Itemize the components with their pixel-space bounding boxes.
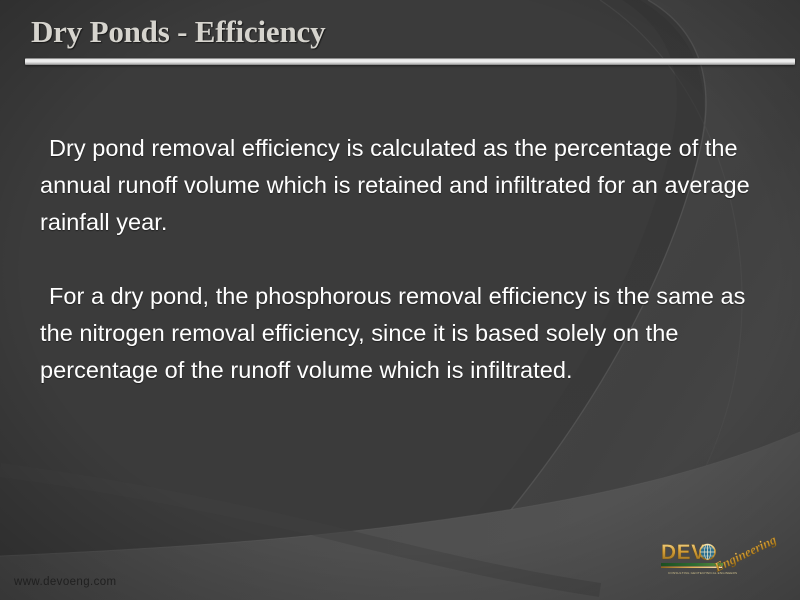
body-content: Dry pond removal efficiency is calculate… (40, 130, 770, 389)
lower-left-curve (0, 470, 600, 590)
paragraph-1: Dry pond removal efficiency is calculate… (40, 130, 770, 241)
title-divider (25, 58, 795, 65)
devo-engineering-logo: DEV CONSULTING GEOTECHNICAL ENGINEERS En… (658, 536, 778, 584)
title-block: Dry Ponds - Efficiency (0, 14, 800, 50)
footer-website-url[interactable]: www.devoeng.com (14, 576, 117, 588)
logo-gold-bar (661, 567, 723, 569)
logo-script-text: Engineering (711, 536, 778, 575)
slide: Dry Ponds - Efficiency Dry pond removal … (0, 0, 800, 600)
logo-wordmark: DEV (661, 541, 706, 564)
logo-tagline: CONSULTING GEOTECHNICAL ENGINEERS (668, 571, 737, 575)
page-title: Dry Ponds - Efficiency (0, 14, 800, 50)
paragraph-2: For a dry pond, the phosphorous removal … (40, 278, 770, 389)
